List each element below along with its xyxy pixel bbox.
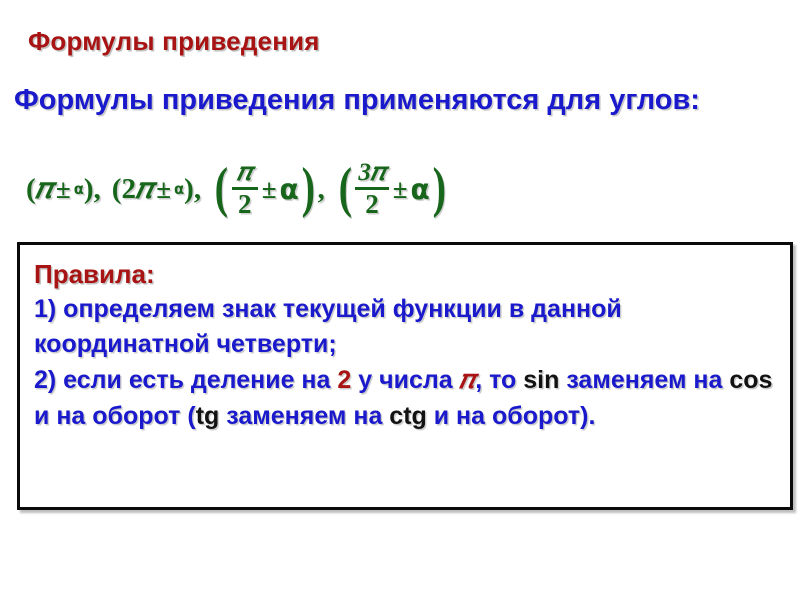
formula-fraction: 𝜋 2	[232, 160, 258, 218]
rule-token: ctg	[389, 402, 427, 430]
rule-token: sin	[523, 366, 559, 394]
formula-separator: ,	[317, 173, 335, 206]
formula-three-pi-over-two-plus-minus-alpha: ( 3𝜋 2 ± α )	[336, 160, 449, 218]
rules-box: Правила: 1) определяем знак текущей функ…	[17, 242, 793, 510]
rule-token: заменяем на	[219, 402, 389, 430]
formula-pi-over-two-plus-minus-alpha: ( 𝜋 2 ± α )	[212, 160, 317, 218]
formula-pi-symbol: 𝜋	[36, 173, 53, 206]
formula-coefficient: 2	[121, 173, 136, 206]
formula-close-paren: )	[432, 166, 445, 212]
formula-row: ( 𝜋 ± α ) , ( 2 𝜋 ± α ) , ( 𝜋 2 ± α ) , …	[26, 160, 448, 218]
formula-separator: ,	[194, 173, 212, 206]
rule-token: , то	[475, 366, 523, 394]
formula-plus-minus-operator: ±	[390, 174, 411, 205]
formula-open-paren: (	[338, 166, 351, 212]
formula-alpha-symbol: α	[411, 173, 430, 206]
intro-heading: Формулы приведения применяются для углов…	[14, 82, 714, 119]
page-title: Формулы приведения	[28, 26, 320, 57]
rule-token: и на оборот (	[34, 402, 196, 430]
rule-token: tg	[196, 402, 220, 430]
rule-token: cos	[729, 366, 772, 394]
formula-close-paren: )	[184, 173, 194, 206]
rule-item-2: 2) если есть деление на 2 у числа 𝜋, то …	[34, 362, 780, 434]
formula-plus-minus-operator: ±	[259, 174, 280, 205]
formula-open-paren: (	[112, 173, 122, 206]
rule-token: и на оборот).	[427, 402, 596, 430]
formula-alpha-symbol: α	[74, 181, 84, 198]
rule-token: 2	[337, 366, 351, 394]
formula-pi-plus-minus-alpha: ( 𝜋 ± α )	[26, 173, 94, 206]
rule-token: 2) если есть деление на	[34, 366, 337, 394]
rule-token: у числа	[351, 366, 459, 394]
formula-open-paren: (	[26, 173, 36, 206]
formula-separator: ,	[94, 173, 112, 206]
formula-alpha-symbol: α	[280, 173, 299, 206]
formula-close-paren: )	[301, 166, 314, 212]
rule-token: 𝜋	[460, 365, 476, 394]
fraction-numerator: 𝜋	[234, 160, 255, 187]
rule-item-1: 1) определяем знак текущей функции в дан…	[34, 292, 780, 362]
fraction-numerator: 3𝜋	[355, 160, 388, 187]
formula-plus-minus-operator: ±	[153, 174, 174, 205]
formula-open-paren: (	[215, 166, 228, 212]
formula-plus-minus-operator: ±	[53, 174, 74, 205]
rules-heading: Правила:	[34, 259, 780, 290]
formula-pi-symbol: 𝜋	[136, 173, 153, 206]
formula-alpha-symbol: α	[174, 181, 184, 198]
formula-two-pi-plus-minus-alpha: ( 2 𝜋 ± α )	[112, 173, 194, 206]
rule-token: заменяем на	[559, 366, 729, 394]
fraction-denominator: 2	[235, 190, 255, 219]
formula-close-paren: )	[84, 173, 94, 206]
formula-fraction: 3𝜋 2	[355, 160, 388, 218]
fraction-denominator: 2	[362, 190, 382, 219]
rule-token: 1) определяем знак текущей функции в дан…	[34, 295, 622, 358]
rules-box-content: Правила: 1) определяем знак текущей функ…	[20, 245, 790, 434]
